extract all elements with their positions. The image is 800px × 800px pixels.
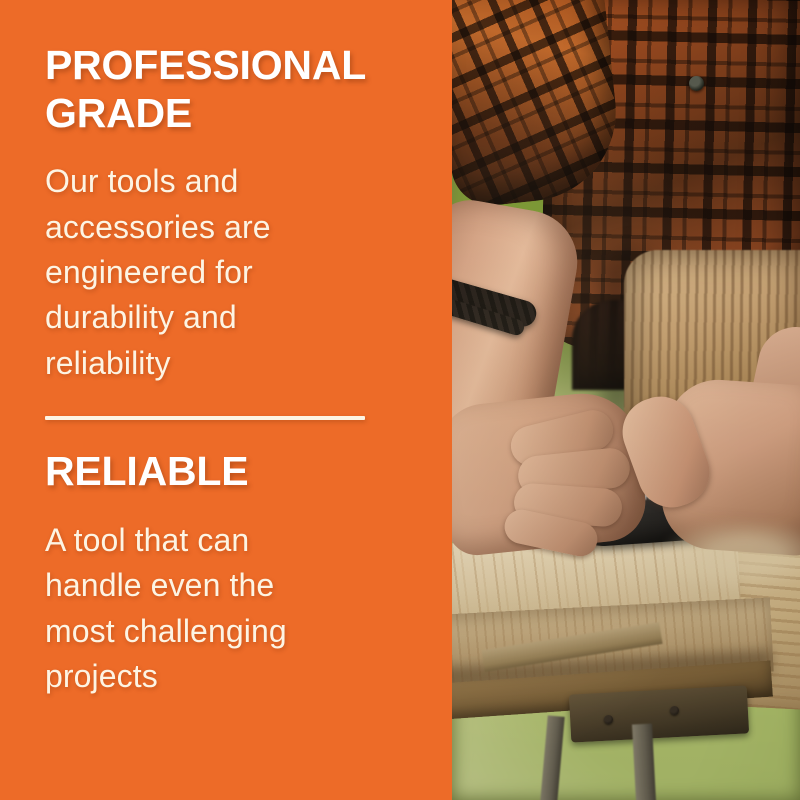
sawhorse-bracket: [569, 685, 749, 742]
reliable-body: A tool that can handle even the most cha…: [45, 518, 322, 700]
sawhorse-leg: [632, 724, 656, 800]
professional-grade-body: Our tools and accessories are engineered…: [45, 159, 322, 386]
sawdust-cloud: [660, 520, 800, 590]
sawhorse-bolt-icon: [670, 706, 679, 715]
promo-card: PROFESSIONAL GRADE Our tools and accesso…: [0, 0, 800, 800]
feature-block-professional-grade: PROFESSIONAL GRADE Our tools and accesso…: [45, 42, 322, 386]
sawhorse-bolt-icon: [604, 715, 613, 724]
shirt-button-icon: [689, 76, 704, 91]
professional-grade-heading: PROFESSIONAL GRADE: [45, 42, 322, 137]
product-in-use-photo: STARLOCK MAX: [452, 0, 800, 800]
section-divider: [45, 416, 365, 420]
feature-panel: PROFESSIONAL GRADE Our tools and accesso…: [0, 0, 452, 800]
feature-block-reliable: RELIABLE A tool that can handle even the…: [45, 448, 322, 699]
reliable-heading: RELIABLE: [45, 448, 322, 496]
